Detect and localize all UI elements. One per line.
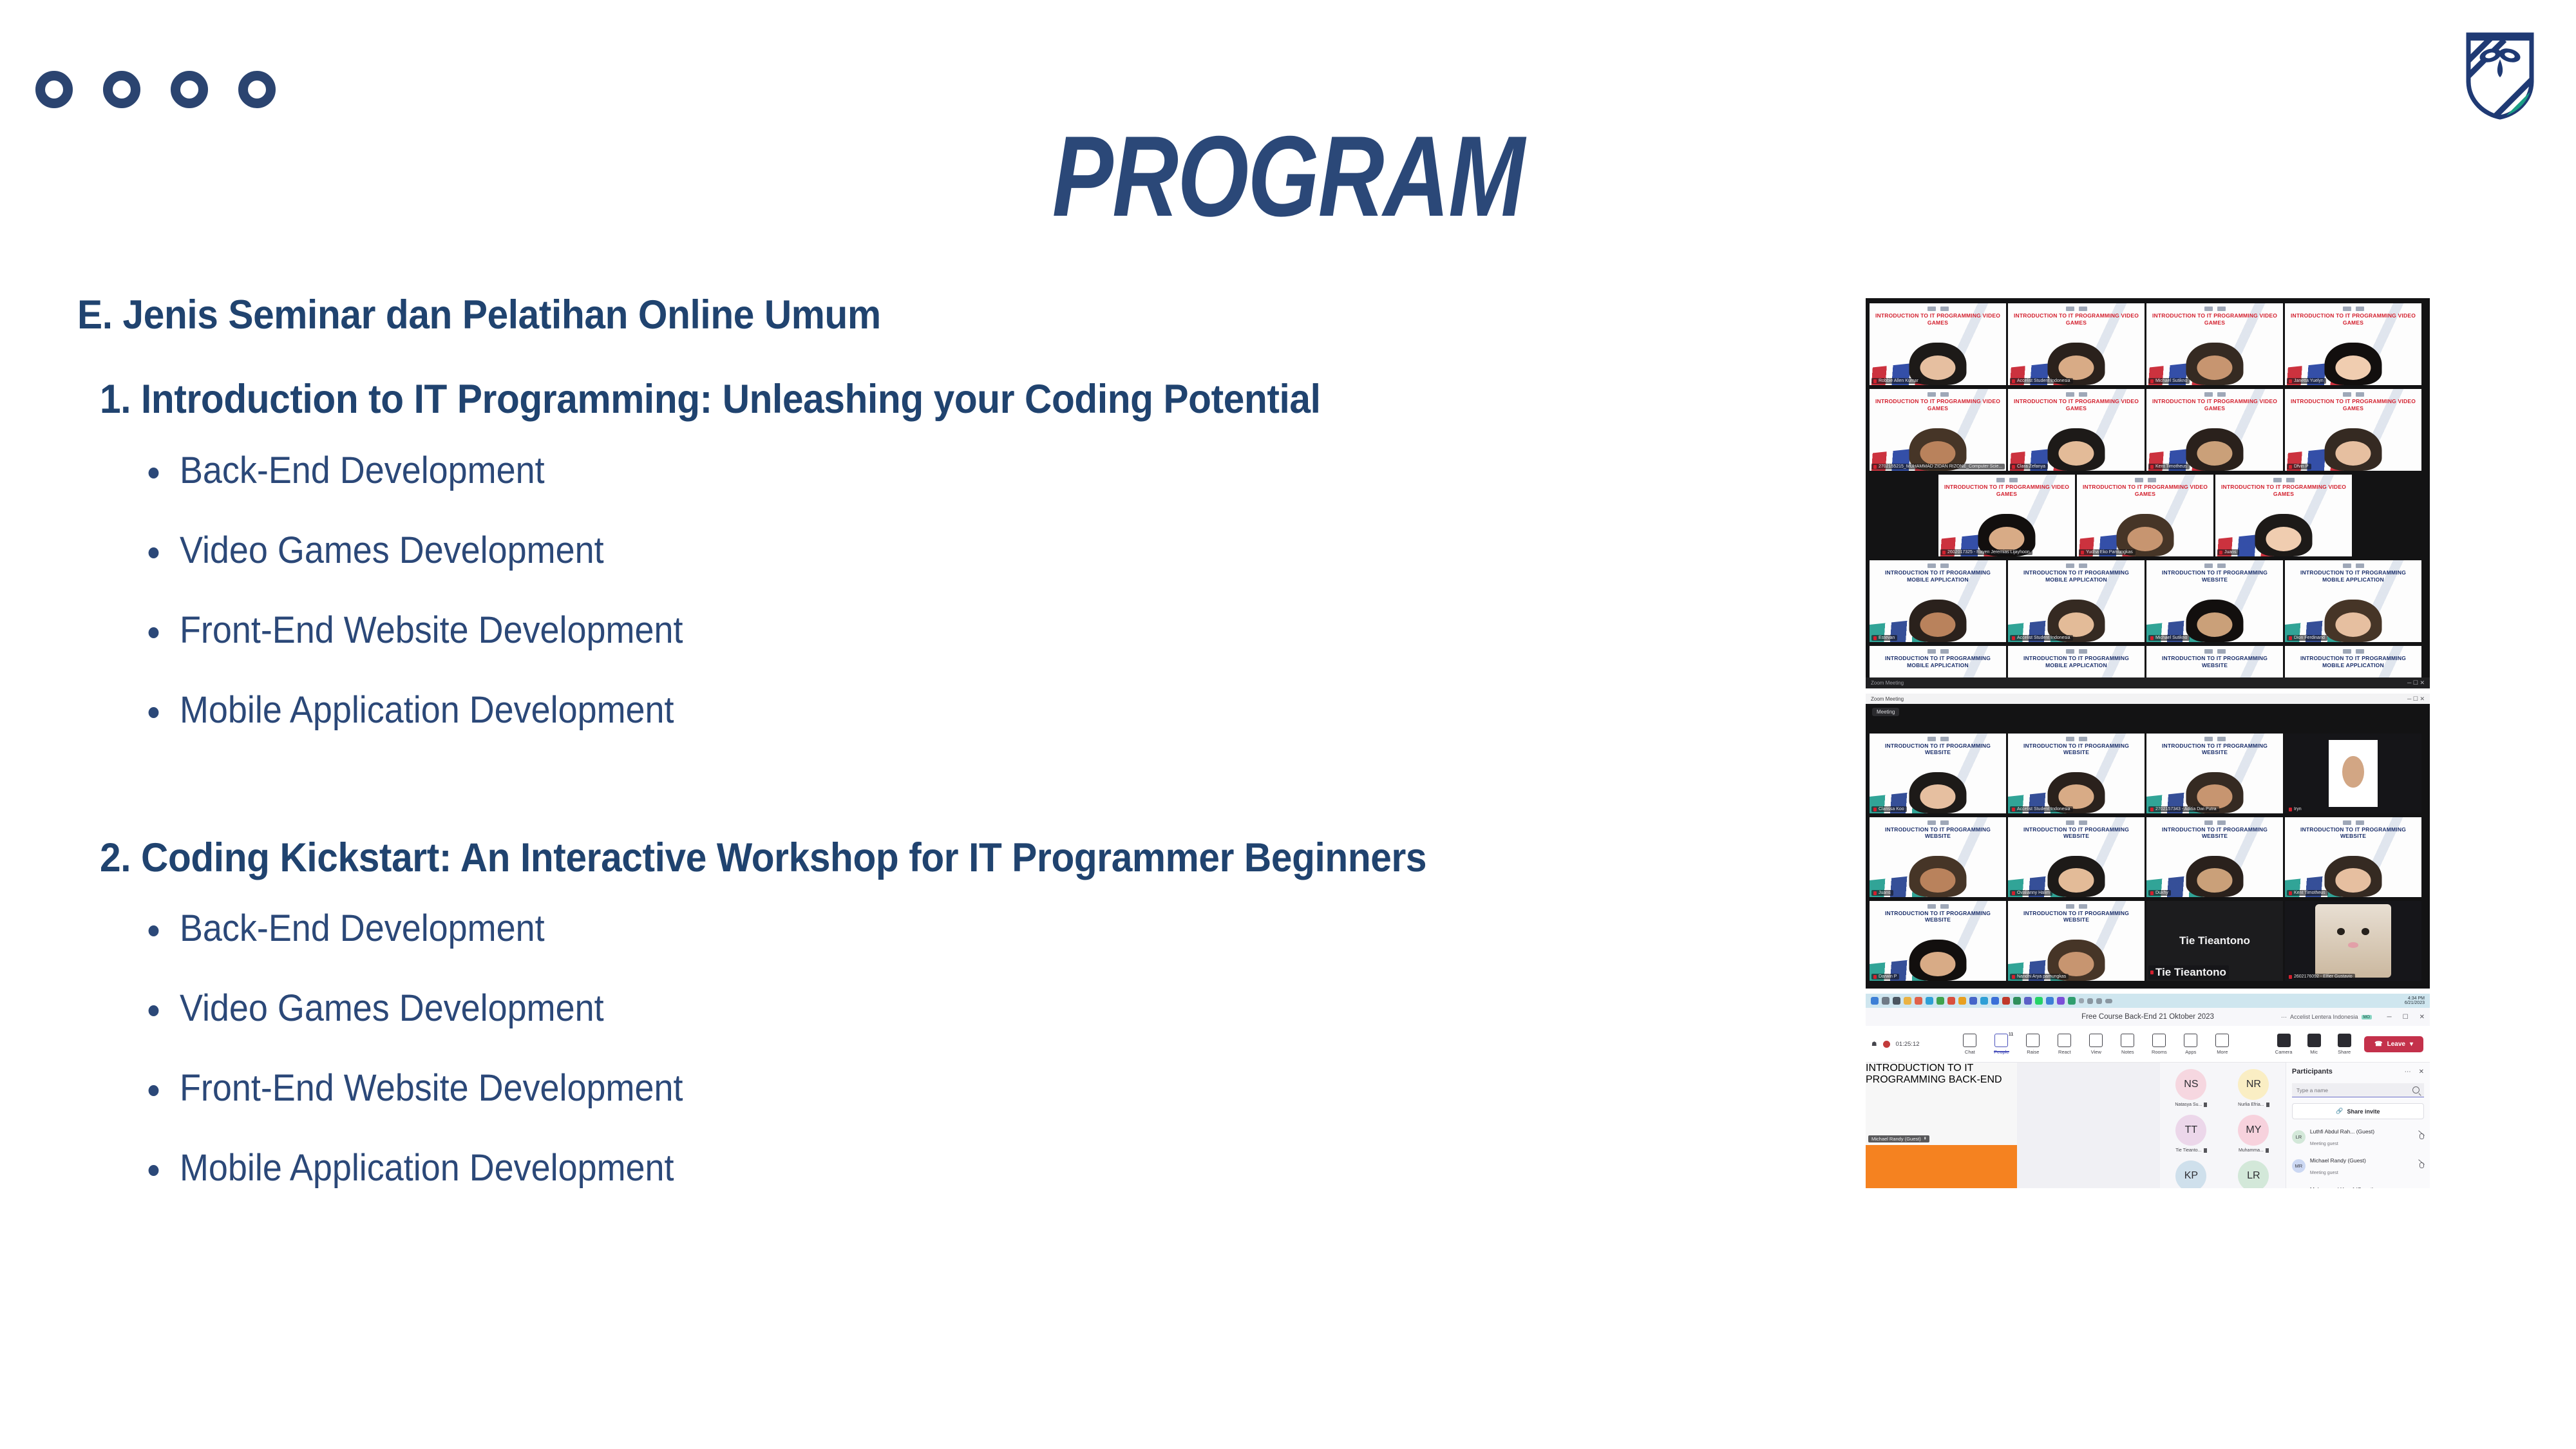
clock-date: 6/21/2023: [2405, 1001, 2425, 1005]
slide-logos: [1870, 392, 2006, 397]
ring-icon: [171, 71, 208, 108]
slide-title: INTRODUCTION TO IT PROGRAMMING MOBILE AP…: [1875, 655, 2000, 668]
window-controls[interactable]: ─ ☐ ✕: [2407, 679, 2425, 687]
participants-panel: Participants ⋯ ✕ Type a name 🔗 Share inv…: [2286, 1063, 2430, 1188]
panel-title: Participants: [2292, 1068, 2333, 1075]
slide-logos: [2008, 563, 2145, 568]
screenshot-teams-meeting: 4:34 PM 6/21/2023 Free Course Back-End 2…: [1866, 994, 2430, 1188]
tool-label: Notes: [2121, 1049, 2134, 1055]
zoom2-meeting-badge: Meeting: [1872, 708, 1899, 716]
slide-logos: [2285, 392, 2421, 397]
video-tile-label: Yudha Eko Pamungkas: [2079, 549, 2136, 555]
video-tile-label: Kent Timotheus: [2148, 464, 2190, 469]
tool-label: View: [2091, 1049, 2101, 1055]
course-heading-2: 2. Coding Kickstart: An Interactive Work…: [100, 836, 1696, 880]
video-row: INTRODUCTION TO IT PROGRAMMING WEBSITEJu…: [1870, 817, 2426, 897]
participant-role: Meeting guest: [2310, 1142, 2338, 1146]
list-item: Back-End Development: [145, 452, 1699, 489]
slide-logos: [2146, 820, 2283, 825]
avatar-tile[interactable]: NSNatasya Su...: [2160, 1069, 2222, 1107]
zoom-statusbar-label: Zoom Meeting: [1871, 680, 1904, 686]
slide-title: INTRODUCTION TO IT PROGRAMMING WEBSITE: [2013, 826, 2139, 840]
list-item: Front-End Website Development: [145, 612, 1699, 649]
mic-muted-icon[interactable]: [2418, 1133, 2424, 1141]
list-item: Video Games Development: [145, 990, 1699, 1027]
list-item: Video Games Development: [145, 532, 1699, 569]
react-icon: [2058, 1034, 2071, 1047]
slide-logos: [2008, 904, 2145, 909]
slide-logos: [2285, 307, 2421, 311]
apps-icon: [2184, 1034, 2197, 1047]
group-spacer: [77, 772, 1816, 836]
start-icon[interactable]: [1871, 997, 1879, 1005]
content-column: E. Jenis Seminar dan Pelatihan Online Um…: [77, 293, 1816, 1229]
breakout-rooms-icon: [2152, 1034, 2166, 1047]
slide-title: INTRODUCTION TO IT PROGRAMMING MOBILE AP…: [1875, 569, 2000, 583]
video-tile[interactable]: INTRODUCTION TO IT PROGRAMMING VIDEO GAM…: [1870, 389, 2006, 471]
avatar: TT: [2175, 1115, 2206, 1146]
video-tile-label: Darwin P: [1871, 974, 1899, 980]
page-title: PROGRAM: [258, 119, 2318, 234]
photos-icon[interactable]: [1915, 997, 1922, 1005]
zoom2-titlebar: Zoom Meeting ─ ☐ ✕: [1866, 694, 2430, 704]
participant-name: Luthfi Abdul Rah... (Guest): [2310, 1128, 2374, 1135]
slide-title: INTRODUCTION TO IT PROGRAMMING VIDEO GAM…: [2152, 312, 2277, 326]
organization-label: ⋯ Accelist Lentera Indonesia MO: [2281, 1014, 2372, 1021]
zoom-statusbar: Zoom Meeting ─ ☐ ✕: [1866, 677, 2430, 688]
video-tile-label: Michael Sutikno: [2148, 635, 2190, 641]
tool-label: Raise: [2027, 1049, 2039, 1055]
avatar: KP: [2175, 1160, 2206, 1188]
chrome-icon[interactable]: [1937, 997, 1944, 1005]
slide-logos: [2285, 649, 2421, 654]
video-tile-label: 2602176092 - Elfier Gustavio: [2287, 974, 2355, 980]
app-icon[interactable]: [2013, 997, 2021, 1005]
teams-tool-people[interactable]: 11People: [1991, 1034, 2012, 1055]
video-tile[interactable]: INTRODUCTION TO IT PROGRAMMING VIDEO GAM…: [1938, 475, 2075, 556]
slide-title: INTRODUCTION TO IT PROGRAMMING BACK-END: [1866, 1063, 2017, 1086]
slide-title: INTRODUCTION TO IT PROGRAMMING VIDEO GAM…: [2082, 484, 2208, 497]
panel-header: Participants ⋯ ✕: [2292, 1068, 2424, 1075]
slide-logos: [2008, 737, 2145, 741]
share-screen-icon: [2338, 1034, 2351, 1047]
slide-title: INTRODUCTION TO IT PROGRAMMING VIDEO GAM…: [2152, 398, 2277, 412]
search-icon: [2412, 1086, 2420, 1094]
decorative-rings: [35, 71, 276, 108]
explorer-icon[interactable]: [1904, 997, 1911, 1005]
avatar-name: Natasya Su...: [2160, 1103, 2222, 1107]
slide-logos: [2008, 649, 2145, 654]
window-controls[interactable]: ─ ☐ ✕: [2407, 696, 2425, 703]
more-ellipsis-icon: [2215, 1034, 2229, 1047]
link-icon: 🔗: [2336, 1108, 2343, 1115]
video-tile[interactable]: INTRODUCTION TO IT PROGRAMMING MOBILE AP…: [1870, 560, 2006, 642]
avatar: MR: [2292, 1159, 2306, 1173]
teams-tool-view[interactable]: View: [2085, 1034, 2107, 1055]
avatar-name: Tie Tieanto...: [2160, 1148, 2222, 1153]
control-label: Share: [2338, 1049, 2351, 1055]
shield-icon: ☗: [1871, 1041, 1877, 1048]
teams-control-camera[interactable]: Camera: [2273, 1034, 2295, 1055]
slide-title: INTRODUCTION TO IT PROGRAMMING VIDEO GAM…: [2013, 398, 2139, 412]
video-tile-label: Clarissa Koo: [1871, 806, 1907, 812]
list-item: Front-End Website Development: [145, 1070, 1699, 1107]
video-tile-label: Dion Ferdinand: [2287, 635, 2327, 641]
avatar: LR: [2292, 1130, 2306, 1144]
avatar-tile[interactable]: MYMuhamma...: [2222, 1115, 2285, 1153]
section-heading: E. Jenis Seminar dan Pelatihan Online Um…: [77, 293, 1694, 337]
control-label: Camera: [2275, 1049, 2293, 1055]
windows-taskbar: 4:34 PM 6/21/2023: [1866, 994, 2430, 1008]
tool-label: Apps: [2185, 1049, 2196, 1055]
share-invite-button[interactable]: 🔗 Share invite: [2292, 1103, 2424, 1119]
search-icon[interactable]: [1882, 997, 1889, 1005]
record-icon: [1883, 1041, 1890, 1048]
video-tile[interactable]: INTRODUCTION TO IT PROGRAMMING VIDEO GAM…: [2285, 303, 2421, 385]
mic-muted-icon[interactable]: [2418, 1162, 2424, 1170]
chrome-icon[interactable]: [1958, 997, 1966, 1005]
slide-title: INTRODUCTION TO IT PROGRAMMING MOBILE AP…: [2290, 655, 2416, 668]
slide-title: INTRODUCTION TO IT PROGRAMMING MOBILE AP…: [2290, 569, 2416, 583]
teams-tool-rooms[interactable]: Rooms: [2148, 1034, 2170, 1055]
video-tile[interactable]: Ronal (Guest): [1866, 1145, 2017, 1188]
video-tile-label: Juans: [1871, 890, 1893, 896]
video-tile[interactable]: INTRODUCTION TO IT PROGRAMMING WEBSITE27…: [2146, 734, 2283, 813]
chrome-icon[interactable]: [1947, 997, 1955, 1005]
slide-title: INTRODUCTION TO IT PROGRAMMING WEBSITE: [1875, 910, 2000, 923]
taskview-icon[interactable]: [1893, 997, 1900, 1005]
presentation-slide: PROGRAM E. Jenis Seminar dan Pelatihan O…: [0, 0, 2576, 1449]
video-tile[interactable]: INTRODUCTION TO IT PROGRAMMING MOBILE AP…: [2285, 560, 2421, 642]
hangup-icon: ☎: [2374, 1041, 2382, 1048]
video-tile-label: Kent Timotheus: [2287, 890, 2328, 896]
slide-title: INTRODUCTION TO IT PROGRAMMING WEBSITE: [1875, 826, 2000, 840]
video-tile[interactable]: INTRODUCTION TO IT PROGRAMMING VIDEO GAM…: [2008, 303, 2145, 385]
avatar-name: Muhamma...: [2222, 1148, 2285, 1153]
slide-logos: [2285, 820, 2421, 825]
avatar: NS: [2175, 1069, 2206, 1100]
more-ellipsis-icon[interactable]: ⋯: [2281, 1014, 2287, 1021]
screenshot-stack: INTRODUCTION TO IT PROGRAMMING VIDEO GAM…: [1866, 298, 2430, 1188]
avatar: NR: [2238, 1069, 2269, 1100]
video-tile[interactable]: INTRODUCTION TO IT PROGRAMMING VIDEO GAM…: [2146, 303, 2283, 385]
participant-name: Michael Randy (Guest): [2310, 1157, 2366, 1164]
minimize-icon[interactable]: ─: [2387, 1014, 2392, 1021]
teams-tool-react[interactable]: React: [2054, 1034, 2076, 1055]
volume-icon[interactable]: [2096, 998, 2102, 1004]
teams-tool-more[interactable]: More: [2211, 1034, 2233, 1055]
raise-hand-icon: [2026, 1034, 2040, 1047]
video-tile[interactable]: INTRODUCTION TO IT PROGRAMMING MOBILE AP…: [2008, 560, 2145, 642]
video-tile-label: Accelist Student Indonesia: [2010, 635, 2073, 641]
video-tile[interactable]: INTRODUCTION TO IT PROGRAMMING WEBSITEKe…: [2285, 817, 2421, 897]
slide-title: INTRODUCTION TO IT PROGRAMMING WEBSITE: [2152, 569, 2277, 583]
slide-logos: [2146, 649, 2283, 654]
slide-title: INTRODUCTION TO IT PROGRAMMING MOBILE AP…: [2013, 569, 2139, 583]
video-row: INTRODUCTION TO IT PROGRAMMING VIDEO GAM…: [1870, 475, 2426, 556]
slide-title: INTRODUCTION TO IT PROGRAMMING VIDEO GAM…: [1875, 312, 2000, 326]
tool-label: More: [2217, 1049, 2228, 1055]
slide-logos: [1938, 478, 2075, 482]
zoom2-title: Zoom Meeting: [1871, 696, 1904, 702]
video-tile[interactable]: INTRODUCTION TO IT PROGRAMMING WEBSITECl…: [1870, 734, 2006, 813]
video-tile-label: Janetta Yuelyn: [2287, 378, 2326, 384]
video-tile[interactable]: INTRODUCTION TO IT PROGRAMMING WEBSITEJu…: [1870, 817, 2006, 897]
screenshot-zoom-gallery-2: Zoom Meeting ─ ☐ ✕ Meeting INTRODUCTION …: [1866, 694, 2430, 989]
chat-icon: [1963, 1034, 1976, 1047]
video-tile-label: Iryn: [2287, 806, 2304, 812]
app-icon[interactable]: [2035, 997, 2043, 1005]
video-tile-label: Juans: [2217, 549, 2239, 555]
notes-icon: [2121, 1034, 2134, 1047]
participant-row[interactable]: MRMichael Randy (Guest)Meeting guest: [2292, 1154, 2424, 1177]
video-tile-label: 2602017325 - Rayen Jeremias Lijayhoon: [1940, 549, 2032, 555]
video-tile-label: Michael Randy (Guest): [1868, 1135, 1929, 1142]
window-controls[interactable]: ─ ☐ ✕: [2387, 1014, 2425, 1021]
app-icon[interactable]: [2002, 997, 2010, 1005]
teams-tool-chat[interactable]: Chat: [1959, 1034, 1981, 1055]
teams-tool-apps[interactable]: Apps: [2180, 1034, 2202, 1055]
teams-stage: INTRODUCTION TO IT PROGRAMMING BACK-END …: [1866, 1063, 2430, 1188]
tool-label: People: [1994, 1049, 2009, 1055]
app-icon[interactable]: [2057, 997, 2065, 1005]
app-icon[interactable]: [1969, 997, 1977, 1005]
slide-title: INTRODUCTION TO IT PROGRAMMING WEBSITE: [2152, 655, 2277, 668]
institution-shield-logo: [2465, 31, 2535, 120]
microphone-icon: [2307, 1034, 2321, 1047]
slide-title: INTRODUCTION TO IT PROGRAMMING VIDEO GAM…: [2013, 312, 2139, 326]
video-row: INTRODUCTION TO IT PROGRAMMING MOBILE AP…: [1870, 560, 2426, 642]
video-tile-label: Tie Tieantono: [2148, 965, 2229, 980]
chevron-down-icon[interactable]: ▾: [2410, 1041, 2413, 1048]
participant-row[interactable]: MYMuhammad Yucuf (Guest)Meeting guest: [2292, 1183, 2424, 1188]
view-grid-icon: [2089, 1034, 2103, 1047]
participant-search-input[interactable]: Type a name: [2292, 1083, 2424, 1097]
video-tile[interactable]: INTRODUCTION TO IT PROGRAMMING VIDEO GAM…: [2008, 389, 2145, 471]
search-placeholder: Type a name: [2297, 1087, 2328, 1094]
app-icon[interactable]: [2068, 997, 2076, 1005]
mic-muted-icon: [2266, 1148, 2269, 1153]
elapsed-time: 01:25:12: [1896, 1041, 1920, 1048]
slide-title: INTRODUCTION TO IT PROGRAMMING MOBILE AP…: [2013, 655, 2139, 668]
app-icon[interactable]: [2046, 997, 2054, 1005]
video-tile-label: Accelist Student Indonesia: [2010, 378, 2073, 384]
video-tile-label: 2702155215_MUHAMMAD ZIDAN RIZONE_Compute…: [1871, 464, 2005, 469]
people-icon: 11: [1994, 1034, 2008, 1047]
video-tile[interactable]: Tie TieantonoTie Tieantono: [2146, 901, 2283, 981]
participant-name-card: Tie Tieantono: [2179, 934, 2250, 947]
video-row: INTRODUCTION TO IT PROGRAMMING WEBSITEDa…: [1870, 901, 2426, 981]
teams-titlebar: Free Course Back-End 21 Oktober 2023 ⋯ A…: [1866, 1008, 2430, 1026]
tool-label: Chat: [1965, 1049, 1975, 1055]
slide-logos: [1870, 737, 2006, 741]
video-tile[interactable]: Iryn: [2285, 734, 2421, 813]
video-tile[interactable]: INTRODUCTION TO IT PROGRAMMING WEBSITEDu…: [2146, 817, 2283, 897]
camera-icon: [2277, 1034, 2291, 1047]
teams-control-share[interactable]: Share: [2333, 1034, 2355, 1055]
close-icon[interactable]: ✕: [2420, 1014, 2425, 1021]
video-tile[interactable]: INTRODUCTION TO IT PROGRAMMING BACK-END …: [1866, 1063, 2017, 1145]
list-item: Back-End Development: [145, 910, 1699, 947]
topic-list-2: Back-End Development Video Games Develop…: [145, 910, 1816, 1187]
ring-icon: [35, 71, 73, 108]
video-tile-label: Ovalianny Halim: [2010, 890, 2052, 896]
video-tile[interactable]: INTRODUCTION TO IT PROGRAMMING WEBSITENa…: [2008, 901, 2145, 981]
teams-tool-notes[interactable]: Notes: [2117, 1034, 2139, 1055]
slide-logos: [2008, 307, 2145, 311]
video-tile-label: Nandhi Arya pamungkas: [2010, 974, 2069, 980]
video-tile-label: Dfvin P: [2287, 464, 2311, 469]
teams-tool-raise[interactable]: Raise: [2022, 1034, 2044, 1055]
mic-muted-icon: [2204, 1103, 2207, 1107]
video-row: INTRODUCTION TO IT PROGRAMMING VIDEO GAM…: [1870, 389, 2426, 471]
avatar: MY: [2238, 1115, 2269, 1146]
video-tile[interactable]: 2602176092 - Elfier Gustavio: [2285, 901, 2421, 981]
topic-list-1: Back-End Development Video Games Develop…: [145, 452, 1816, 729]
slide-logos: [1870, 904, 2006, 909]
video-tile-label: Estevan: [1871, 635, 1897, 641]
teams-toolbar: ☗ 01:25:12 Chat11PeopleRaiseReactViewNot…: [1866, 1026, 2430, 1063]
avatar-name: Nurlia Efria...: [2222, 1103, 2285, 1107]
taskbar-clock[interactable]: 4:34 PM 6/21/2023: [2405, 996, 2425, 1006]
chevron-up-icon[interactable]: [2079, 998, 2084, 1003]
video-tile-label: Robbie Allen Kumar: [1871, 378, 1921, 384]
tool-label: Rooms: [2152, 1049, 2167, 1055]
participant-name: Muhammad Yucuf (Guest): [2310, 1186, 2374, 1188]
slide-logos: [1870, 820, 2006, 825]
video-tile[interactable]: INTRODUCTION TO IT PROGRAMMING WEBSITEAc…: [2008, 734, 2145, 813]
avatar: MY: [2292, 1188, 2306, 1189]
network-icon[interactable]: [2087, 998, 2093, 1004]
mic-muted-icon: [2266, 1103, 2269, 1107]
avatar: LR: [2238, 1160, 2269, 1188]
slide-title: INTRODUCTION TO IT PROGRAMMING WEBSITE: [2013, 743, 2139, 756]
participant-row[interactable]: LRLuthfi Abdul Rah... (Guest)Meeting gue…: [2292, 1125, 2424, 1148]
slide-title: INTRODUCTION TO IT PROGRAMMING VIDEO GAM…: [1944, 484, 2069, 497]
video-tile[interactable]: INTRODUCTION TO IT PROGRAMMING VIDEO GAM…: [2146, 389, 2283, 471]
slide-title: INTRODUCTION TO IT PROGRAMMING VIDEO GAM…: [2290, 398, 2416, 412]
edge-icon[interactable]: [1926, 997, 1933, 1005]
screenshot-zoom-gallery-1: INTRODUCTION TO IT PROGRAMMING VIDEO GAM…: [1866, 298, 2430, 688]
app-icon[interactable]: [1991, 997, 1999, 1005]
video-tile[interactable]: INTRODUCTION TO IT PROGRAMMING WEBSITEDa…: [1870, 901, 2006, 981]
slide-title: INTRODUCTION TO IT PROGRAMMING WEBSITE: [2013, 910, 2139, 923]
avatar-tile[interactable]: KPChan Py (G...: [2160, 1160, 2222, 1188]
meeting-timer-group: ☗ 01:25:12: [1866, 1041, 1920, 1048]
video-tile[interactable]: INTRODUCTION TO IT PROGRAMMING VIDEO GAM…: [2077, 475, 2213, 556]
video-tile[interactable]: INTRODUCTION TO IT PROGRAMMING VIDEO GAM…: [2285, 389, 2421, 471]
tool-label: React: [2058, 1049, 2071, 1055]
slide-logos: [1870, 307, 2006, 311]
slide-title: INTRODUCTION TO IT PROGRAMMING WEBSITE: [2152, 743, 2277, 756]
video-tile[interactable]: INTRODUCTION TO IT PROGRAMMING VIDEO GAM…: [1870, 303, 2006, 385]
app-icon[interactable]: [1980, 997, 1988, 1005]
slide-logos: [2146, 307, 2283, 311]
ring-icon: [238, 71, 276, 108]
slide-title: INTRODUCTION TO IT PROGRAMMING VIDEO GAM…: [1875, 398, 2000, 412]
avatar-tile[interactable]: TTTie Tieanto...: [2160, 1115, 2222, 1153]
video-tile-label: Accelist Student Indonesia: [2010, 806, 2073, 812]
video-tile[interactable]: INTRODUCTION TO IT PROGRAMMING WEBSITEOv…: [2008, 817, 2145, 897]
video-row: INTRODUCTION TO IT PROGRAMMING WEBSITECl…: [1870, 734, 2426, 813]
battery-icon[interactable]: [2105, 999, 2112, 1003]
slide-logos: [2285, 563, 2421, 568]
ring-icon: [103, 71, 140, 108]
video-tile-label: Dukhy: [2148, 890, 2171, 896]
meeting-title: Free Course Back-End 21 Oktober 2023: [2081, 1013, 2214, 1021]
slide-logos: [2008, 820, 2145, 825]
clock-time: 4:34 PM: [2408, 996, 2425, 1001]
participant-role: Meeting guest: [2310, 1171, 2338, 1175]
slide-title: INTRODUCTION TO IT PROGRAMMING VIDEO GAM…: [2290, 312, 2416, 326]
video-tile-label: Michael Sutikno: [2148, 378, 2190, 384]
control-label: Mic: [2310, 1049, 2318, 1055]
slide-logos: [1870, 649, 2006, 654]
course-heading-1: 1. Introduction to IT Programming: Unlea…: [100, 377, 1696, 422]
slide-title: INTRODUCTION TO IT PROGRAMMING WEBSITE: [1875, 743, 2000, 756]
avatar-grid: NSNatasya Su...NRNurlia Efria...TTTie Ti…: [2160, 1063, 2286, 1188]
slide-title: INTRODUCTION TO IT PROGRAMMING VIDEO GAM…: [2221, 484, 2346, 497]
maximize-icon[interactable]: ☐: [2403, 1014, 2409, 1021]
video-row: INTRODUCTION TO IT PROGRAMMING VIDEO GAM…: [1870, 303, 2426, 385]
slide-logos: [1870, 563, 2006, 568]
participants-list: LRLuthfi Abdul Rah... (Guest)Meeting gue…: [2292, 1125, 2424, 1188]
avatar-tile[interactable]: NRNurlia Efria...: [2222, 1069, 2285, 1107]
slide-title: INTRODUCTION TO IT PROGRAMMING WEBSITE: [2152, 826, 2277, 840]
teams-control-mic[interactable]: Mic: [2303, 1034, 2325, 1055]
teams-icon[interactable]: [2024, 997, 2032, 1005]
close-icon[interactable]: ✕: [2419, 1068, 2424, 1075]
leave-button[interactable]: ☎ Leave ▾: [2364, 1036, 2423, 1052]
video-tile[interactable]: INTRODUCTION TO IT PROGRAMMING WEBSITEMi…: [2146, 560, 2283, 642]
slide-title: INTRODUCTION TO IT PROGRAMMING WEBSITE: [2290, 826, 2416, 840]
avatar-tile[interactable]: LRLuthfi Abd...: [2222, 1160, 2285, 1188]
slide-logos: [2146, 563, 2283, 568]
list-item: Mobile Application Development: [145, 692, 1699, 729]
video-grid: INTRODUCTION TO IT PROGRAMMING BACK-END …: [1866, 1063, 2160, 1188]
more-ellipsis-icon[interactable]: ⋯: [2405, 1068, 2411, 1075]
slide-logos: [2146, 392, 2283, 397]
media-controls: CameraMicShare ☎ Leave ▾: [2273, 1034, 2430, 1055]
slide-logos: [2215, 478, 2352, 482]
video-tile[interactable]: INTRODUCTION TO IT PROGRAMMING VIDEO GAM…: [2215, 475, 2352, 556]
video-tile-label: Clara Zefanya: [2010, 464, 2048, 469]
mic-muted-icon: [2204, 1148, 2207, 1153]
slide-logos: [2077, 478, 2213, 482]
list-item: Mobile Application Development: [145, 1150, 1699, 1187]
slide-logos: [2146, 737, 2283, 741]
video-tile-label: 2702157343 - Aditia Dwi Putra: [2148, 806, 2219, 812]
slide-logos: [2008, 392, 2145, 397]
